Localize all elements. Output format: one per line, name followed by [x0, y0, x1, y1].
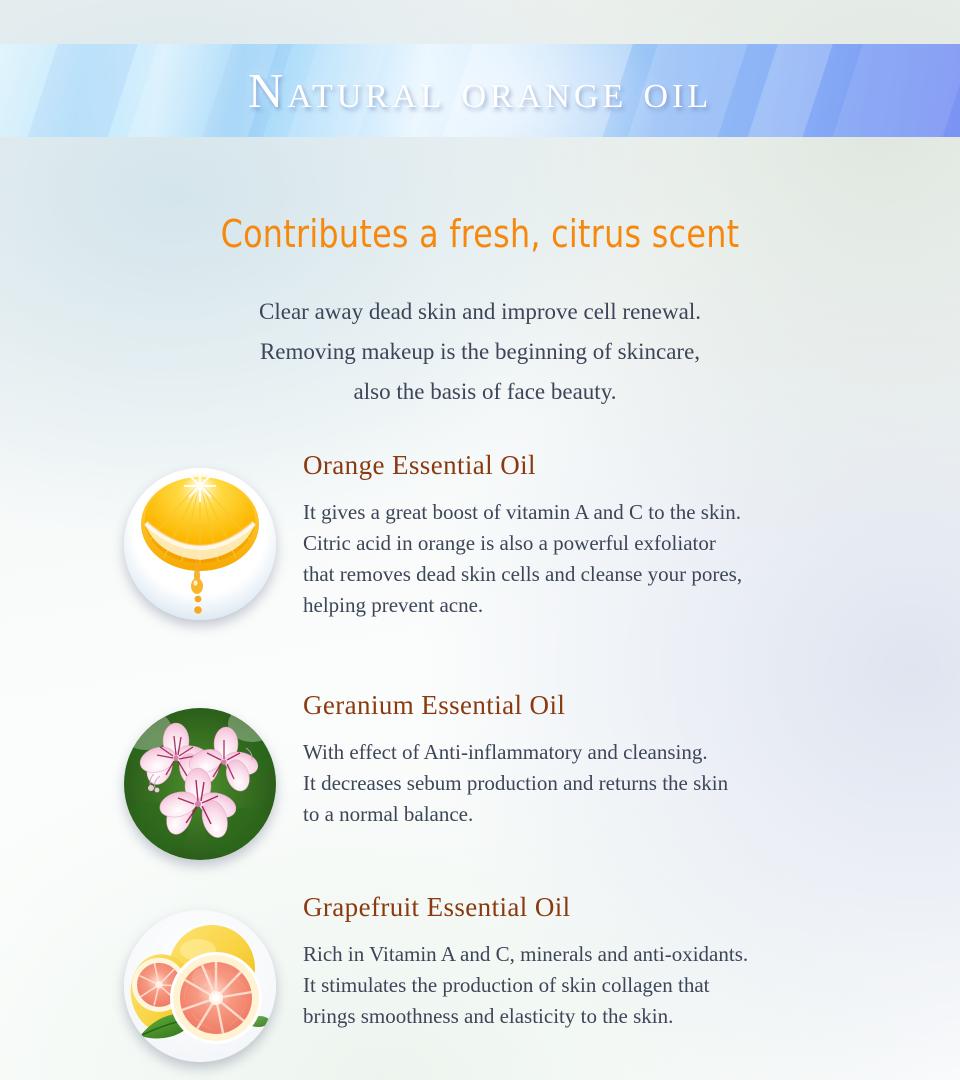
thumbnail-wrapper: [124, 708, 279, 863]
subtitle: Contributes a fresh, citrus scent: [34, 212, 927, 256]
section-text-line: Rich in Vitamin A and C, minerals and an…: [303, 939, 890, 970]
geranium-flower-icon: [124, 708, 276, 860]
section-text-line: It gives a great boost of vitamin A and …: [303, 497, 890, 528]
intro-line-3: also the basis of face beauty.: [0, 372, 960, 412]
intro-line-1: Clear away dead skin and improve cell re…: [0, 292, 960, 332]
section-text-line: that removes dead skin cells and cleanse…: [303, 559, 890, 590]
section-heading: Geranium Essential Oil: [303, 690, 890, 721]
thumbnail-wrapper: [124, 910, 279, 1065]
intro-paragraph: Clear away dead skin and improve cell re…: [0, 292, 960, 412]
intro-line-2: Removing makeup is the beginning of skin…: [0, 332, 960, 372]
section-text-line: helping prevent acne.: [303, 590, 890, 621]
section-heading: Orange Essential Oil: [303, 450, 890, 481]
section-body: Orange Essential Oil It gives a great bo…: [303, 450, 960, 621]
section-text: It gives a great boost of vitamin A and …: [303, 497, 890, 621]
page-title: Natural orange oil: [0, 44, 960, 137]
section-text: With effect of Anti-inflammatory and cle…: [303, 737, 890, 830]
section-text-line: With effect of Anti-inflammatory and cle…: [303, 737, 890, 768]
grapefruit-halves-icon: [124, 910, 276, 1062]
ingredient-section-grapefruit: Grapefruit Essential Oil Rich in Vitamin…: [0, 892, 960, 1032]
section-text-line: to a normal balance.: [303, 799, 890, 830]
section-text: Rich in Vitamin A and C, minerals and an…: [303, 939, 890, 1032]
ingredient-section-geranium: Geranium Essential Oil With effect of An…: [0, 690, 960, 830]
section-body: Geranium Essential Oil With effect of An…: [303, 690, 960, 830]
section-text-line: It stimulates the production of skin col…: [303, 970, 890, 1001]
header-banner: Natural orange oil: [0, 44, 960, 137]
orange-slice-dripping-icon: [124, 468, 276, 620]
thumbnail-wrapper: [124, 468, 279, 623]
section-text-line: Citric acid in orange is also a powerful…: [303, 528, 890, 559]
section-text-line: It decreases sebum production and return…: [303, 768, 890, 799]
ingredient-section-orange: Orange Essential Oil It gives a great bo…: [0, 450, 960, 621]
section-heading: Grapefruit Essential Oil: [303, 892, 890, 923]
section-text-line: brings smoothness and elasticity to the …: [303, 1001, 890, 1032]
section-body: Grapefruit Essential Oil Rich in Vitamin…: [303, 892, 960, 1032]
